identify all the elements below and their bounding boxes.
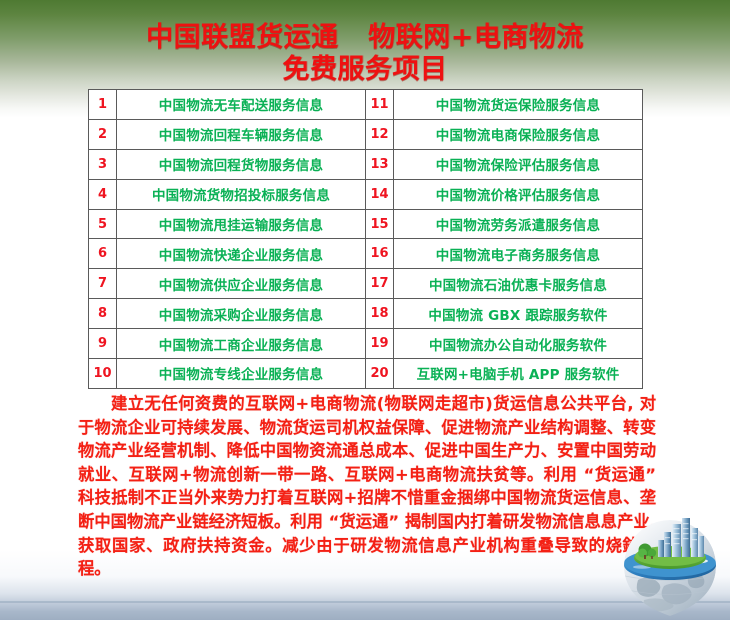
service-item-left[interactable]: 中国物流货物招投标服务信息 [117,179,366,209]
service-item-right[interactable]: 中国物流价格评估服务信息 [394,179,643,209]
services-table-container: 1中国物流无车配送服务信息11中国物流货运保险服务信息2中国物流回程车辆服务信息… [88,89,638,389]
service-item-left[interactable]: 中国物流回程车辆服务信息 [117,119,366,149]
service-item-left[interactable]: 中国物流专线企业服务信息 [117,359,366,389]
page-title-line-2: 免费服务项目 [0,54,730,86]
service-item-right[interactable]: 中国物流劳务派遣服务信息 [394,209,643,239]
service-item-left[interactable]: 中国物流回程货物服务信息 [117,149,366,179]
table-row: 1中国物流无车配送服务信息11中国物流货运保险服务信息 [89,90,643,120]
row-number-left: 7 [89,269,117,299]
row-number-right: 16 [366,239,394,269]
row-number-left: 4 [89,179,117,209]
service-item-right[interactable]: 互联网+电脑手机 APP 服务软件 [394,359,643,389]
service-item-right[interactable]: 中国物流办公自动化服务软件 [394,329,643,359]
row-number-right: 14 [366,179,394,209]
table-row: 3中国物流回程货物服务信息13中国物流保险评估服务信息 [89,149,643,179]
service-item-right[interactable]: 中国物流石油优惠卡服务信息 [394,269,643,299]
row-number-left: 8 [89,299,117,329]
row-number-left: 1 [89,90,117,120]
row-number-left: 2 [89,119,117,149]
slide-canvas: 中国联盟货运通 物联网+电商物流 免费服务项目 1中国物流无车配送服务信息11中… [0,0,730,620]
service-item-right[interactable]: 中国物流电商保险服务信息 [394,119,643,149]
row-number-left: 6 [89,239,117,269]
table-row: 5中国物流甩挂运输服务信息15中国物流劳务派遣服务信息 [89,209,643,239]
row-number-right: 11 [366,90,394,120]
service-item-right[interactable]: 中国物流保险评估服务信息 [394,149,643,179]
page-title-line-1: 中国联盟货运通 物联网+电商物流 [0,22,730,54]
description-paragraph: 建立无任何资费的互联网+电商物流(物联网走超市)货运信息公共平台, 对于物流企业… [78,392,656,581]
service-item-left[interactable]: 中国物流工商企业服务信息 [117,329,366,359]
row-number-right: 18 [366,299,394,329]
row-number-left: 3 [89,149,117,179]
table-row: 9中国物流工商企业服务信息19中国物流办公自动化服务软件 [89,329,643,359]
row-number-left: 10 [89,359,117,389]
table-row: 4中国物流货物招投标服务信息14中国物流价格评估服务信息 [89,179,643,209]
table-row: 10中国物流专线企业服务信息20互联网+电脑手机 APP 服务软件 [89,359,643,389]
page-title: 中国联盟货运通 物联网+电商物流 免费服务项目 [0,22,730,86]
earth-globe-icon [614,514,726,618]
row-number-right: 15 [366,209,394,239]
row-number-left: 9 [89,329,117,359]
row-number-right: 20 [366,359,394,389]
service-item-right[interactable]: 中国物流 GBX 跟踪服务软件 [394,299,643,329]
service-item-left[interactable]: 中国物流无车配送服务信息 [117,90,366,120]
service-item-right[interactable]: 中国物流货运保险服务信息 [394,90,643,120]
row-number-right: 13 [366,149,394,179]
table-row: 6中国物流快递企业服务信息16中国物流电子商务服务信息 [89,239,643,269]
service-item-left[interactable]: 中国物流快递企业服务信息 [117,239,366,269]
service-item-left[interactable]: 中国物流供应企业服务信息 [117,269,366,299]
table-row: 7中国物流供应企业服务信息17中国物流石油优惠卡服务信息 [89,269,643,299]
service-item-left[interactable]: 中国物流甩挂运输服务信息 [117,209,366,239]
row-number-right: 17 [366,269,394,299]
row-number-left: 5 [89,209,117,239]
service-item-left[interactable]: 中国物流采购企业服务信息 [117,299,366,329]
service-item-right[interactable]: 中国物流电子商务服务信息 [394,239,643,269]
row-number-right: 12 [366,119,394,149]
row-number-right: 19 [366,329,394,359]
table-row: 2中国物流回程车辆服务信息12中国物流电商保险服务信息 [89,119,643,149]
services-table: 1中国物流无车配送服务信息11中国物流货运保险服务信息2中国物流回程车辆服务信息… [88,89,643,389]
table-row: 8中国物流采购企业服务信息18中国物流 GBX 跟踪服务软件 [89,299,643,329]
